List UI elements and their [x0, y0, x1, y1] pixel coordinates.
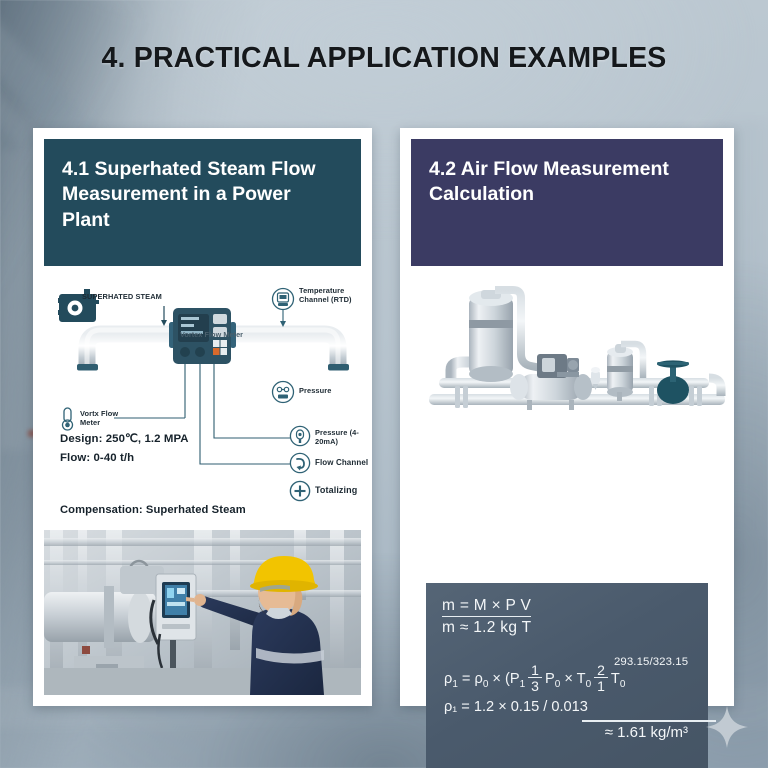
steam-flow-diagram: SUPERHATED STEAM Vortex Flow Meter Tempe…	[54, 278, 371, 526]
temperature-ratio: 293.15/323.15	[614, 656, 688, 668]
rho-eq: = ρ	[458, 671, 483, 687]
fraction-two-one: 21	[594, 663, 608, 693]
p1-sub: 1	[520, 679, 526, 690]
control-valve	[657, 360, 689, 404]
label-pressure: Pressure	[299, 386, 331, 395]
spec-list: Design: 250℃, 1.2 MPA Flow: 0-40 t/h	[60, 430, 250, 469]
label-totalizing: Totalizing	[315, 485, 357, 496]
pressure-icon	[273, 382, 294, 403]
formula-mass-top: m = M × P V	[442, 597, 531, 617]
temperature-ratio-wrap: 293.15/323.15	[614, 656, 688, 668]
temperature-rtd-icon	[273, 289, 294, 310]
fraction-denominator: 1	[594, 678, 608, 693]
example-card-4-1: 4.1 Superhated Steam Flow Measurement in…	[33, 128, 372, 706]
totalizing-icon	[290, 481, 309, 500]
compressor-unit	[537, 354, 579, 378]
field-photo	[44, 530, 361, 695]
slide-canvas: 4. PRACTICAL APPLICATION EXAMPLES 4.1 Su…	[0, 0, 768, 768]
card-body-4-1: SUPERHATED STEAM Vortex Flow Meter Tempe…	[44, 266, 361, 526]
formula-mass: m = M × P V m ≈ 1.2 kg T	[442, 597, 692, 637]
label-pressure-4-20ma: Pressure (4-20mA)	[315, 428, 371, 447]
pressure-transmitter-icon	[290, 426, 309, 445]
field-photo-illustration	[44, 530, 361, 695]
times-t0: × T	[560, 671, 585, 687]
label-flow-channel: Flow Channel	[315, 458, 368, 468]
formula-result: ≈ 1.61 kg/m³	[605, 724, 688, 741]
t0-sub-a: 0	[586, 679, 592, 690]
t0-symbol-b: T	[611, 671, 620, 687]
formula-density-line-1: ρ1 = ρ0 × (P113P0 × T021T0	[444, 664, 625, 694]
label-pipe-vortex-flow-meter: Vortex Flow Meter	[180, 330, 243, 339]
label-superhated-steam: SUPERHATED STEAM	[82, 292, 162, 301]
label-vortx-flow-meter: Vortx Flow Meter	[80, 409, 132, 428]
formula-mass-bottom: m ≈ 1.2 kg T	[442, 619, 531, 637]
air-system-svg	[421, 274, 733, 424]
flow-channel-icon	[290, 453, 309, 472]
spec-flow: Flow: 0-40 t/h	[60, 449, 250, 468]
fraction-denominator: 3	[528, 678, 542, 693]
fraction-one-third: 13	[528, 663, 542, 693]
t0-sub-b: 0	[620, 679, 626, 690]
formula-density-line-2: ρ₁ = 1.2 × 0.15 / 0.013	[444, 699, 588, 715]
card-heading-4-2: 4.2 Air Flow Measurement Calculation	[411, 139, 723, 266]
fraction-numerator: 2	[594, 663, 608, 678]
compensation-note: Compensation: Superhated Steam	[60, 504, 246, 516]
small-tank	[607, 344, 633, 397]
rho-times-open: × (P	[488, 671, 519, 687]
card-body-4-2: m = M × P V m ≈ 1.2 kg T ρ1 = ρ0 × (P113…	[411, 266, 723, 424]
card-heading-4-1: 4.1 Superhated Steam Flow Measurement in…	[44, 139, 361, 266]
p0-symbol: P	[545, 671, 555, 687]
formula-density: ρ1 = ρ0 × (P113P0 × T021T0 293.15/323.15…	[442, 654, 692, 746]
air-system-illustration	[421, 274, 733, 424]
example-card-4-2: 4.2 Air Flow Measurement Calculation	[400, 128, 734, 706]
spec-design: Design: 250℃, 1.2 MPA	[60, 430, 250, 449]
formula-box: m = M × P V m ≈ 1.2 kg T ρ1 = ρ0 × (P113…	[426, 583, 708, 768]
thermometer-icon	[63, 408, 73, 430]
sparkle-icon	[704, 704, 750, 750]
label-temperature-channel: Temperature Channel (RTD)	[299, 286, 367, 305]
page-title: 4. PRACTICAL APPLICATION EXAMPLES	[0, 42, 768, 75]
vertical-tank	[469, 290, 513, 382]
formula-divider	[582, 720, 716, 722]
fraction-numerator: 1	[528, 663, 542, 678]
